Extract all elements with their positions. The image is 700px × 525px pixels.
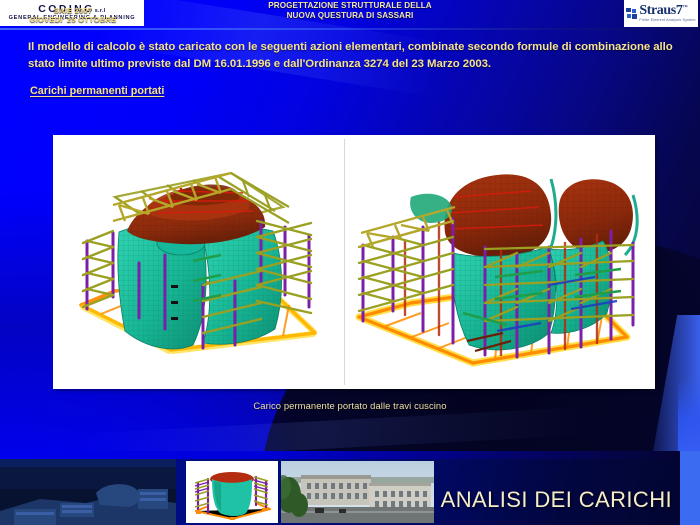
figure-panel [53, 135, 655, 389]
straus7-trademark: ™ [682, 6, 687, 11]
saie-event-name: SAIE 2007 [8, 6, 138, 15]
footer-accent-sliver [680, 451, 700, 525]
straus7-logo-name: Straus7 [639, 3, 682, 18]
section-subheading: Carichi permanenti portati [30, 85, 164, 97]
footer-topline [0, 451, 700, 459]
straus7-squares-icon [626, 8, 637, 19]
presentation-title: PROGETTAZIONE STRUTTURALE DELLA NUOVA QU… [190, 1, 510, 20]
body-paragraph: Il modello di calcolo è stato caricato c… [28, 39, 678, 72]
saie-banner [0, 459, 176, 525]
presentation-title-line1: PROGETTAZIONE STRUTTURALE DELLA [190, 1, 510, 11]
figure-caption: Carico permanente portato dalle travi cu… [0, 400, 700, 411]
straus7-logo-text: Straus7™ Finite Element Analysis System [639, 4, 695, 23]
fem-model-left [53, 135, 344, 389]
saie-event-date: GIOVEDI' 25 OTTOBRE [8, 15, 138, 24]
thumbnail-fem-model[interactable] [186, 461, 278, 523]
presentation-title-line2: NUOVA QUESTURA DI SASSARI [190, 11, 510, 21]
footer-section-title: ANALISI DEI CARICHI [441, 487, 672, 513]
straus7-logo-tagline: Finite Element Analysis System [639, 19, 695, 23]
thumbnail-building-photo[interactable] [281, 461, 434, 523]
fem-model-right [345, 135, 655, 389]
straus7-logo: Straus7™ Finite Element Analysis System [624, 0, 698, 27]
saie-event-text: SAIE 2007 GIOVEDI' 25 OTTOBRE [8, 6, 138, 25]
slide-canvas: CODINGs.r.l GENERAL ENGINEERING & PLANNI… [0, 0, 700, 525]
header-divider [0, 28, 700, 30]
background-right-sliver [678, 0, 700, 525]
